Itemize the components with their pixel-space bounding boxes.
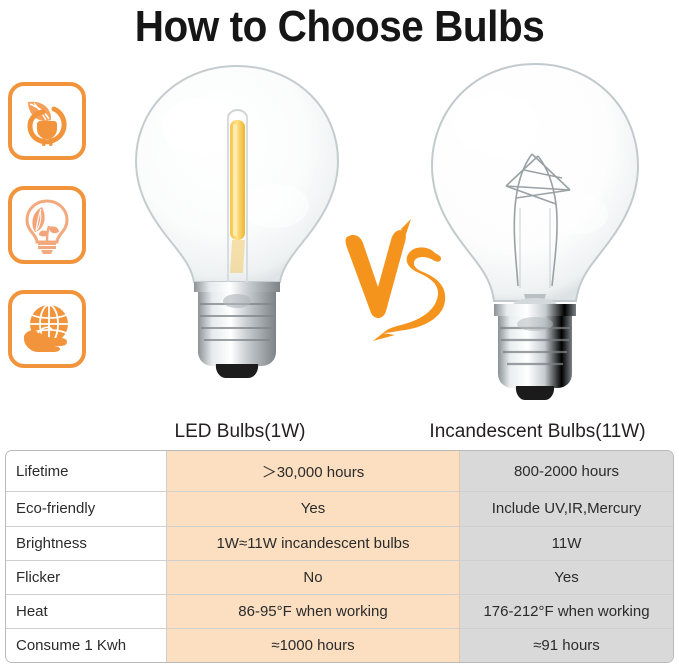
led-value: ≈1000 hours bbox=[167, 629, 460, 662]
table-row: Heat 86-95°F when working 176-212°F when… bbox=[6, 594, 673, 628]
feature-label: Consume 1 Kwh bbox=[6, 629, 167, 662]
incandescent-bulb-image bbox=[420, 58, 650, 428]
bulb-comparison-stage bbox=[100, 58, 679, 433]
feature-label: Brightness bbox=[6, 526, 167, 560]
incandescent-value: Yes bbox=[460, 560, 674, 594]
led-value: 86-95°F when working bbox=[167, 594, 460, 628]
incandescent-value: 176-212°F when working bbox=[460, 594, 674, 628]
feature-label: Eco-friendly bbox=[6, 492, 167, 526]
table-row: Lifetime ＞30,000 hours 800-2000 hours bbox=[6, 451, 673, 492]
protect-earth-icon bbox=[18, 300, 76, 358]
feature-icon-column bbox=[8, 82, 92, 394]
incandescent-value: 11W bbox=[460, 526, 674, 560]
table-row: Consume 1 Kwh ≈1000 hours ≈91 hours bbox=[6, 629, 673, 662]
table-row: Flicker No Yes bbox=[6, 560, 673, 594]
page-title: How to Choose Bulbs bbox=[27, 2, 652, 52]
eco-bulb-icon-badge bbox=[8, 186, 86, 264]
eco-plug-icon bbox=[18, 92, 76, 150]
incandescent-value: Include UV,IR,Mercury bbox=[460, 492, 674, 526]
table-row: Eco-friendly Yes Include UV,IR,Mercury bbox=[6, 492, 673, 526]
protect-earth-icon-badge bbox=[8, 290, 86, 368]
comparison-table: Lifetime ＞30,000 hours 800-2000 hours Ec… bbox=[5, 450, 674, 663]
table-row: Brightness 1W≈11W incandescent bulbs 11W bbox=[6, 526, 673, 560]
led-value: Yes bbox=[167, 492, 460, 526]
incandescent-value: 800-2000 hours bbox=[460, 451, 674, 492]
led-bulb-image bbox=[112, 58, 362, 423]
eco-bulb-icon bbox=[18, 196, 76, 254]
feature-label: Flicker bbox=[6, 560, 167, 594]
led-value: 1W≈11W incandescent bulbs bbox=[167, 526, 460, 560]
feature-label: Lifetime bbox=[6, 451, 167, 492]
incandescent-value: ≈91 hours bbox=[460, 629, 674, 662]
led-bulb-caption: LED Bulbs(1W) bbox=[110, 420, 370, 444]
eco-plug-icon-badge bbox=[8, 82, 86, 160]
incandescent-bulb-caption: Incandescent Bulbs(11W) bbox=[400, 420, 675, 444]
led-value: ＞30,000 hours bbox=[167, 451, 460, 492]
led-value: No bbox=[167, 560, 460, 594]
feature-label: Heat bbox=[6, 594, 167, 628]
